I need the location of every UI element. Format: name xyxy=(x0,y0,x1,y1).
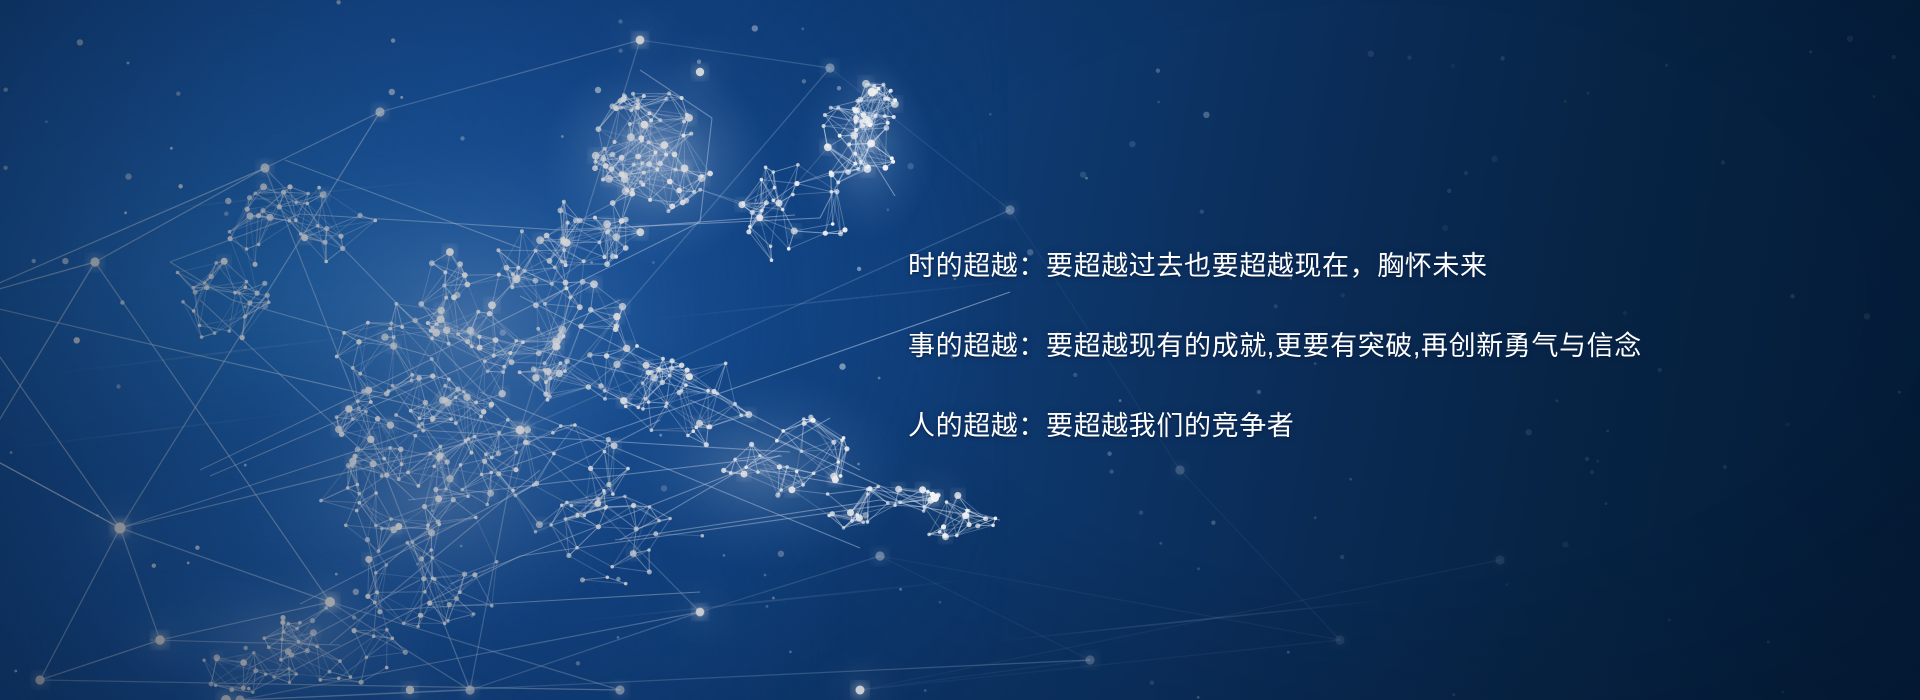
tagline-line-3: 人的超越：要超越我们的竞争者 xyxy=(908,386,1828,466)
tagline-line-1: 时的超越：要超越过去也要超越现在，胸怀未来 xyxy=(908,226,1828,306)
tagline-block: 时的超越：要超越过去也要超越现在，胸怀未来 事的超越：要超越现有的成就,更要有突… xyxy=(908,226,1828,466)
hero-banner: 时的超越：要超越过去也要超越现在，胸怀未来 事的超越：要超越现有的成就,更要有突… xyxy=(0,0,1920,700)
tagline-line-2: 事的超越：要超越现有的成就,更要有突破,再创新勇气与信念 xyxy=(908,306,1828,386)
